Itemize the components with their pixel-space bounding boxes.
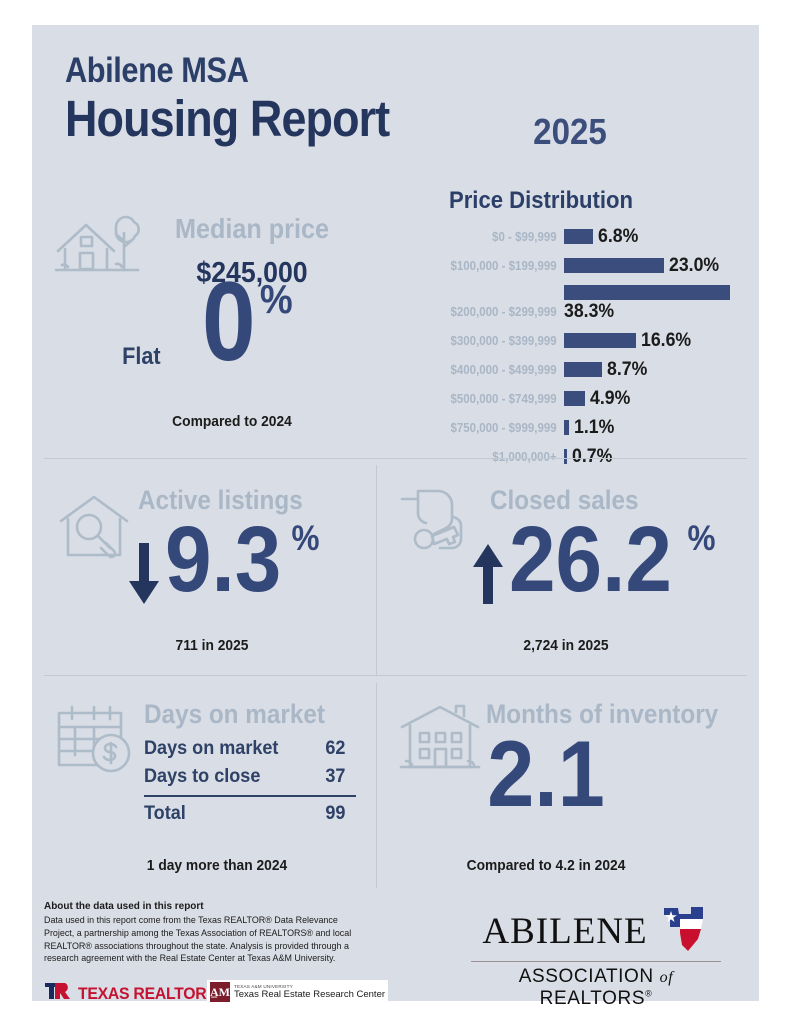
aar-name-row: ABILENE xyxy=(461,905,731,958)
aar-sub-realtors: REALTORS xyxy=(540,988,645,1009)
median-price-direction: Flat xyxy=(122,343,160,371)
texas-realtors-mark xyxy=(44,981,72,1006)
price-distribution-bar xyxy=(564,229,593,244)
price-distribution-bar-area: 23.0% xyxy=(564,251,759,280)
down-arrow-icon xyxy=(127,543,161,610)
months-of-inventory-value: 2.1 xyxy=(393,727,699,821)
price-distribution-chart: $0 - $99,9996.8%$100,000 - $199,99923.0%… xyxy=(376,222,759,471)
price-distribution-label: $500,000 - $749,999 xyxy=(391,392,564,406)
price-distribution-row: $300,000 - $399,99916.6% xyxy=(376,326,759,355)
hand-keys-icon xyxy=(398,487,482,572)
title-line-msa: Abilene MSA xyxy=(65,53,389,90)
price-distribution-label: $0 - $99,999 xyxy=(391,230,564,244)
active-listings-sub: 711 in 2025 xyxy=(83,637,341,654)
trerc-logo: A̲M TEXAS A&M UNIVERSITY Texas Real Esta… xyxy=(207,980,388,1004)
house-magnifier-icon xyxy=(57,493,131,570)
price-distribution-row: $400,000 - $499,9998.7% xyxy=(376,355,759,384)
report-panel: Abilene MSA Housing Report 2025 Median p… xyxy=(32,25,759,1001)
aar-name: ABILENE xyxy=(482,910,647,953)
aar-sub-of: of xyxy=(660,969,674,986)
texas-realtors-label: TEXAS REALTORS xyxy=(78,984,217,1004)
dom-row-value: 62 xyxy=(325,738,345,760)
house-tree-icon xyxy=(54,207,140,282)
price-distribution-label: $200,000 - $299,999 xyxy=(391,305,564,319)
active-listings-change-number: 9.3 xyxy=(165,515,281,603)
price-distribution-section: Price Distribution $0 - $99,9996.8%$100,… xyxy=(376,165,759,458)
median-price-percent-sign: % xyxy=(260,276,293,323)
closed-sales-section: Closed sales 26.2 % 2,724 in 2025 xyxy=(376,465,759,675)
price-distribution-row: $100,000 - $199,99923.0% xyxy=(376,251,759,280)
price-distribution-bar xyxy=(564,391,585,406)
table-separator xyxy=(144,795,356,797)
price-distribution-row: $750,000 - $999,9991.1% xyxy=(376,413,759,442)
days-on-market-note: 1 day more than 2024 xyxy=(84,857,351,874)
texas-am-mark: A̲M xyxy=(210,982,230,1002)
abilene-association-logo: ABILENE ASSOCIATION of REALTORS® xyxy=(461,905,731,1010)
price-distribution-row: $500,000 - $749,9994.9% xyxy=(376,384,759,413)
price-distribution-title: Price Distribution xyxy=(389,187,693,215)
price-distribution-value: 4.9% xyxy=(590,388,630,410)
price-distribution-bar-area: 6.8% xyxy=(564,222,759,251)
active-listings-change: 9.3 % xyxy=(127,515,321,610)
about-data-body: Data used in this report come from the T… xyxy=(44,914,351,965)
median-price-compare: Compared to 2024 xyxy=(103,413,361,430)
closed-sales-change: 26.2 % xyxy=(471,515,717,610)
closed-sales-percent-sign: % xyxy=(688,519,716,559)
price-distribution-bar xyxy=(564,333,636,348)
page-title: Abilene MSA Housing Report xyxy=(65,53,433,145)
months-of-inventory-sub: Compared to 4.2 in 2024 xyxy=(390,857,703,874)
days-on-market-table: Days on market 62 Days to close 37 Total… xyxy=(144,735,356,828)
price-distribution-bar xyxy=(564,449,567,464)
price-distribution-bar-area: 38.3% xyxy=(564,280,759,326)
report-year: 2025 xyxy=(460,111,681,153)
price-distribution-bar xyxy=(564,285,730,300)
price-distribution-bar-area: 16.6% xyxy=(564,326,759,355)
title-line-report: Housing Report xyxy=(65,92,389,146)
price-distribution-row: $200,000 - $299,99938.3% xyxy=(376,280,759,326)
price-distribution-value: 38.3% xyxy=(564,301,614,323)
price-distribution-value: 8.7% xyxy=(607,359,647,381)
table-row-total: Total 99 xyxy=(144,800,345,828)
texas-realtors-logo: TEXAS REALTORS xyxy=(44,981,227,1006)
price-distribution-label: $1,000,000+ xyxy=(391,450,564,464)
price-distribution-value: 23.0% xyxy=(669,255,719,277)
price-distribution-row: $0 - $99,9996.8% xyxy=(376,222,759,251)
price-distribution-value: 16.6% xyxy=(641,330,691,352)
table-row: Days to close 37 xyxy=(144,763,345,791)
median-price-section: Median price $245,000 Flat 0 % Compared … xyxy=(32,165,376,458)
median-price-heading: Median price xyxy=(153,213,351,245)
closed-sales-sub: 2,724 in 2025 xyxy=(428,637,704,654)
days-on-market-heading: Days on market xyxy=(144,699,325,730)
price-distribution-bar-area: 4.9% xyxy=(564,384,759,413)
closed-sales-change-number: 26.2 xyxy=(509,515,672,603)
trerc-text: TEXAS A&M UNIVERSITY Texas Real Estate R… xyxy=(234,984,385,1000)
dom-row-value: 37 xyxy=(325,766,345,788)
active-listings-percent-sign: % xyxy=(292,519,320,559)
price-distribution-label: $400,000 - $499,999 xyxy=(391,363,564,377)
median-price-change: 0 % xyxy=(202,270,295,373)
price-distribution-bar xyxy=(564,362,602,377)
header: Abilene MSA Housing Report 2025 xyxy=(32,25,759,165)
dom-total-value: 99 xyxy=(325,803,345,825)
dom-row-label: Days on market xyxy=(144,738,278,760)
aar-subtitle: ASSOCIATION of REALTORS® xyxy=(461,966,731,1010)
dom-row-label: Days to close xyxy=(144,766,260,788)
dom-total-label: Total xyxy=(144,803,186,825)
footer: About the data used in this report Data … xyxy=(32,887,759,1001)
active-listings-section: Active listings 9.3 % 711 in 2025 xyxy=(32,465,376,675)
price-distribution-label: $750,000 - $999,999 xyxy=(391,421,564,435)
price-distribution-bar xyxy=(564,258,664,273)
price-distribution-label: $100,000 - $199,999 xyxy=(391,259,564,273)
months-of-inventory-section: Months of inventory 2.1 Compared to 4.2 … xyxy=(376,687,759,887)
up-arrow-icon xyxy=(471,543,505,610)
aar-registered-mark: ® xyxy=(645,989,652,999)
days-on-market-section: Days on market Days on market 62 Days to… xyxy=(32,687,376,887)
texas-state-icon xyxy=(658,905,710,958)
price-distribution-bar xyxy=(564,420,569,435)
price-distribution-bar-area: 1.1% xyxy=(564,413,759,442)
aar-sub-association: ASSOCIATION xyxy=(519,966,654,987)
median-price-change-number: 0 xyxy=(202,270,256,373)
about-data-title: About the data used in this report xyxy=(44,900,204,912)
aar-divider xyxy=(471,961,721,962)
trerc-name: Texas Real Estate Research Center xyxy=(234,989,385,1000)
table-row: Days on market 62 xyxy=(144,735,345,763)
divider-horizontal-top xyxy=(44,458,747,459)
calendar-dollar-icon xyxy=(54,703,134,782)
price-distribution-value: 6.8% xyxy=(598,226,638,248)
price-distribution-value: 1.1% xyxy=(574,417,614,439)
price-distribution-label: $300,000 - $399,999 xyxy=(391,334,564,348)
price-distribution-bar-area: 8.7% xyxy=(564,355,759,384)
divider-horizontal-bottom xyxy=(44,675,747,676)
